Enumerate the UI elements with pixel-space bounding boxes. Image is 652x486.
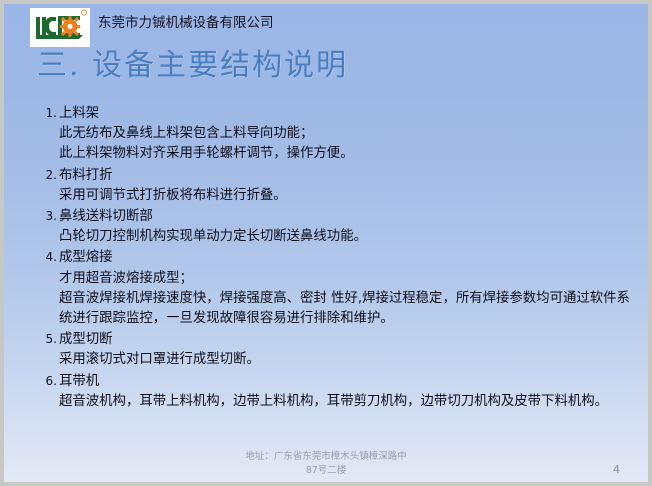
- list-item: 2.布料打折 采用可调节式打折板将布料进行折叠。: [40, 165, 640, 206]
- list-item-line: 凸轮切刀控制机构实现单动力定长切断送鼻线功能。: [59, 227, 640, 247]
- list-item-number: 6.: [40, 371, 59, 391]
- company-logo: [30, 8, 90, 47]
- list-item-heading: 1.上料架: [40, 103, 640, 124]
- list-item: 6.耳带机 超音波机构，耳带上料机构，边带上料机构，耳带剪刀机构，边带切刀机构及…: [40, 371, 640, 412]
- list-item: 5.成型切断 采用滚切式对口罩进行成型切断。: [40, 329, 640, 370]
- list-item-line: 此上料架物料对齐采用手轮螺杆调节，操作方便。: [59, 144, 640, 164]
- list-item-line: 才用超音波熔接成型；: [59, 269, 640, 289]
- list-item-heading: 5.成型切断: [40, 329, 640, 350]
- list-item-title: 鼻线送料切断部: [59, 209, 153, 224]
- slide-header: 东莞市力铖机械设备有限公司: [4, 4, 648, 50]
- company-name: 东莞市力铖机械设备有限公司: [98, 15, 274, 31]
- list-item: 1.上料架 此无纺布及鼻线上料架包含上料导向功能； 此上料架物料对齐采用手轮螺杆…: [40, 103, 640, 165]
- list-item-heading: 6.耳带机: [40, 371, 640, 392]
- list-item-title: 上料架: [59, 106, 99, 121]
- list-item-heading: 3.鼻线送料切断部: [40, 206, 640, 227]
- list-item-title: 布料打折: [59, 168, 113, 183]
- list-item-number: 1.: [40, 103, 59, 123]
- footer-address-line-2: 87号二楼: [4, 464, 648, 478]
- list-item-line: 采用滚切式对口罩进行成型切断。: [59, 350, 640, 370]
- presentation-slide: 东莞市力铖机械设备有限公司 三. 设备主要结构说明 1.上料架 此无纺布及鼻线上…: [0, 0, 652, 486]
- page-number: 4: [613, 463, 620, 476]
- list-item-heading: 2.布料打折: [40, 165, 640, 186]
- list-item-paragraph: 超音波机构，耳带上料机构，边带上料机构，耳带剪刀机构，边带切刀机构及皮带下料机构…: [59, 392, 642, 412]
- list-item-number: 4.: [40, 247, 59, 267]
- company-logo-icon: [30, 8, 90, 47]
- list-item-line: 采用可调节式打折板将布料进行折叠。: [59, 186, 640, 206]
- list-item-title: 成型切断: [59, 332, 113, 347]
- page-title: 三. 设备主要结构说明: [37, 48, 348, 84]
- list-item-line: 此无纺布及鼻线上料架包含上料导向功能；: [59, 124, 640, 144]
- list-item-number: 5.: [40, 329, 59, 349]
- list-item-number: 2.: [40, 165, 59, 185]
- list-item-title: 耳带机: [59, 374, 99, 389]
- list-item-number: 3.: [40, 206, 59, 226]
- slide-footer: 地址：广东省东莞市樟木头镇樟深路中 87号二楼: [4, 450, 648, 477]
- list-item-title: 成型熔接: [59, 250, 113, 265]
- list-item-paragraph: 超音波焊接机焊接速度快，焊接强度高、密封 性好,焊接过程稳定，所有焊接参数均可通…: [59, 289, 642, 329]
- list-item-heading: 4.成型熔接: [40, 247, 640, 268]
- content-list: 1.上料架 此无纺布及鼻线上料架包含上料导向功能； 此上料架物料对齐采用手轮螺杆…: [40, 103, 640, 412]
- list-item: 3.鼻线送料切断部 凸轮切刀控制机构实现单动力定长切断送鼻线功能。: [40, 206, 640, 247]
- list-item: 4.成型熔接 才用超音波熔接成型； 超音波焊接机焊接速度快，焊接强度高、密封 性…: [40, 247, 640, 329]
- footer-address-line-1: 地址：广东省东莞市樟木头镇樟深路中: [4, 450, 648, 464]
